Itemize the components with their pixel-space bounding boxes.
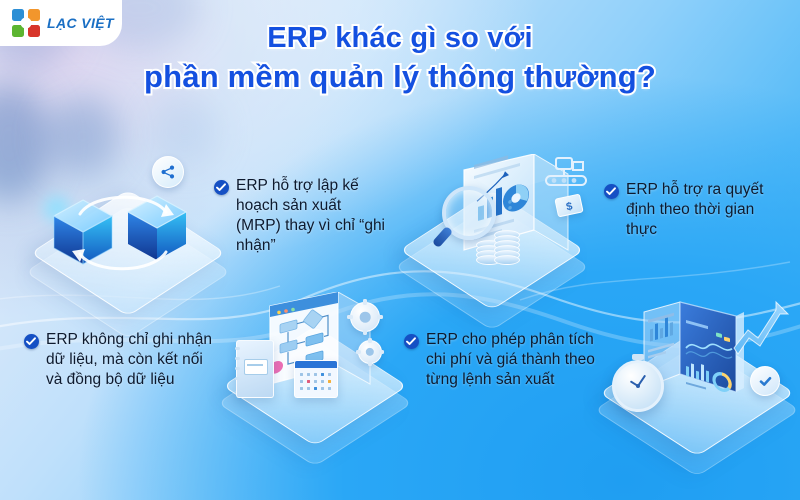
cost-analysis-illustration: $ [424,148,614,298]
production-planning-illustration [232,288,412,438]
realtime-decision-illustration [602,292,792,442]
callout-connect: ERP không chỉ ghi nhận dữ liệu, mà còn k… [24,330,219,390]
callout-text: ERP không chỉ ghi nhận dữ liệu, mà còn k… [46,330,219,390]
callout-realtime: ERP hỗ trợ ra quyết định theo thời gian … [604,180,779,240]
brand-logo[interactable]: LẠC VIỆT [0,0,122,46]
data-sync-cubes-illustration [28,150,228,300]
sync-arrows-icon [68,184,178,280]
four-squares-logo-icon [12,9,40,37]
callout-text: ERP hỗ trợ ra quyết định theo thời gian … [626,180,779,240]
callout-cost: ERP cho phép phân tích chi phí và giá th… [404,330,604,390]
gear-icon [350,302,380,332]
check-badge-icon [750,366,780,396]
check-circle-icon [604,184,619,199]
svg-text:$: $ [565,200,573,213]
gear-icon [358,340,382,364]
callout-text: ERP cho phép phân tích chi phí và giá th… [426,330,604,390]
price-tag-icon: $ [554,194,583,218]
trend-arrow-up-icon [730,298,792,360]
infographic-canvas: LẠC VIỆT ERP khác gì so với phần mềm quả… [0,0,800,500]
callout-text: ERP hỗ trợ lập kế hoạch sản xuất (MRP) t… [236,176,389,257]
stopwatch-icon [612,360,664,412]
calendar-icon [294,360,338,398]
check-circle-icon [404,334,419,349]
callout-mrp: ERP hỗ trợ lập kế hoạch sản xuất (MRP) t… [214,176,389,257]
brand-name: LẠC VIỆT [47,15,114,31]
check-circle-icon [24,334,39,349]
share-node-icon [152,156,184,188]
title-line-2: phần mềm quản lý thông thường? [0,59,800,95]
notebook-icon [236,340,274,398]
check-circle-icon [214,180,229,195]
